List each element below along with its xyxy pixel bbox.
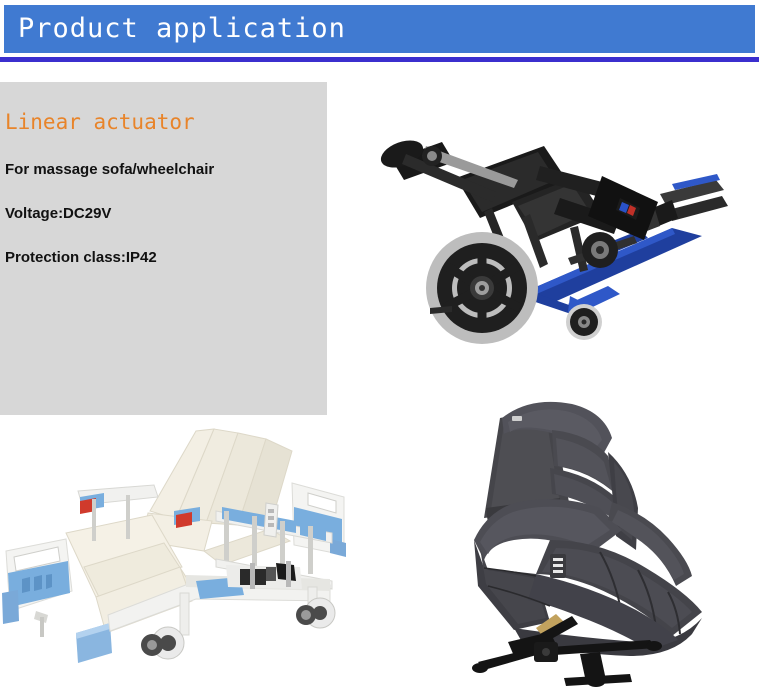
spec-line-protection-class: Protection class:IP42 — [5, 248, 157, 268]
product-photo-wheelchair — [372, 118, 759, 348]
product-spec-panel: Linear actuator For massage sofa/wheelch… — [0, 82, 327, 415]
spec-line-application: For massage sofa/wheelchair — [5, 160, 214, 180]
page-header-banner: Product application — [4, 5, 755, 53]
product-photo-lift-recliner — [440, 390, 759, 690]
spec-line-voltage: Voltage:DC29V — [5, 204, 111, 224]
spec-title: Linear actuator — [5, 108, 195, 136]
product-photo-hospital-bed — [0, 415, 380, 695]
header-divider-rule — [0, 57, 759, 62]
page-title: Product application — [18, 11, 346, 47]
